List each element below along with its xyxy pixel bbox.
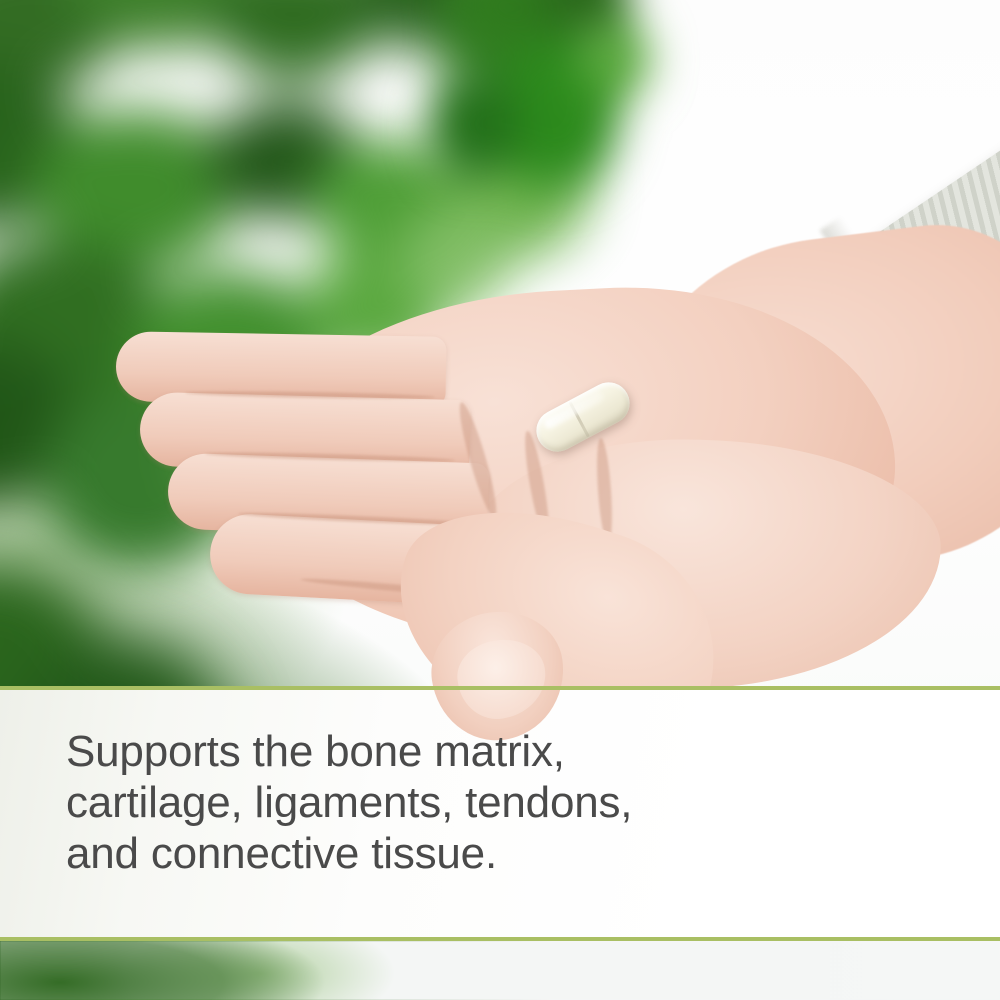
divider-rule-bottom [0, 937, 1000, 941]
divider-rule-top [0, 686, 1000, 690]
product-image-canvas: Supports the bone matrix, cartilage, lig… [0, 0, 1000, 1000]
footer-photo-strip [0, 941, 1000, 1000]
caption-text: Supports the bone matrix, cartilage, lig… [66, 726, 946, 879]
